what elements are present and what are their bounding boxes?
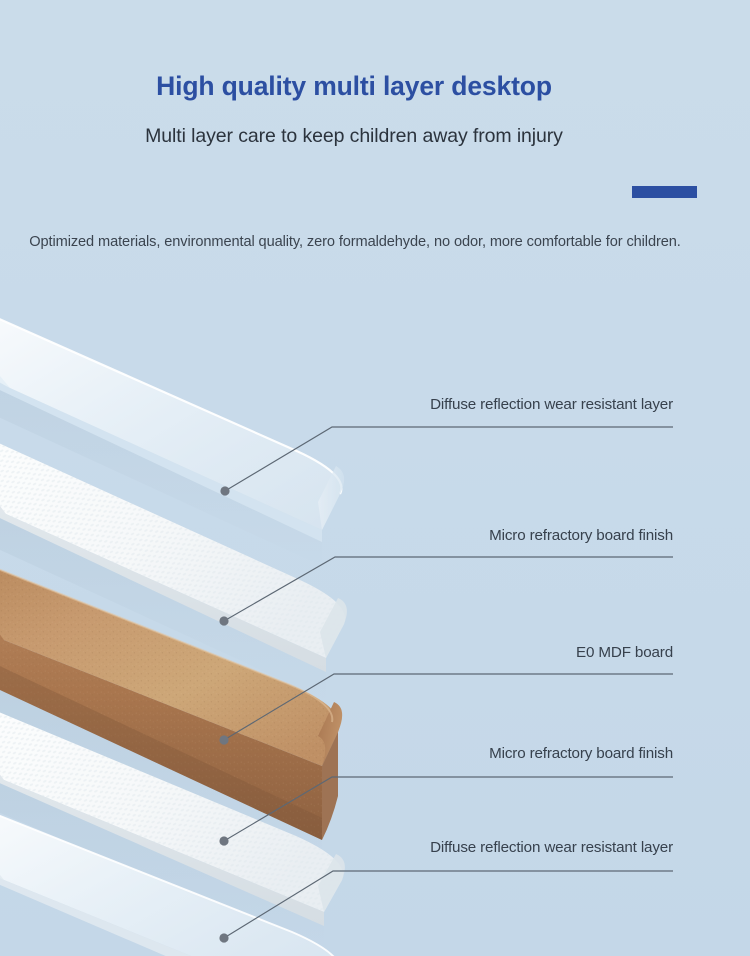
page-subtitle: Multi layer care to keep children away f… (0, 125, 750, 148)
layer-label-1: Diffuse reflection wear resistant layer (430, 396, 673, 413)
layer-stack-illustration (0, 280, 470, 956)
description-text: Optimized materials, environmental quali… (0, 231, 750, 255)
layer-label-3: E0 MDF board (576, 644, 673, 661)
layer-label-2: Micro refractory board finish (489, 527, 673, 544)
accent-bar (632, 186, 697, 198)
header-block: High quality multi layer desktop Multi l… (0, 0, 750, 149)
page-title: High quality multi layer desktop (0, 72, 750, 101)
layer-label-4: Micro refractory board finish (489, 745, 673, 762)
product-feature-panel: High quality multi layer desktop Multi l… (0, 0, 750, 956)
layer-label-5: Diffuse reflection wear resistant layer (430, 839, 673, 856)
